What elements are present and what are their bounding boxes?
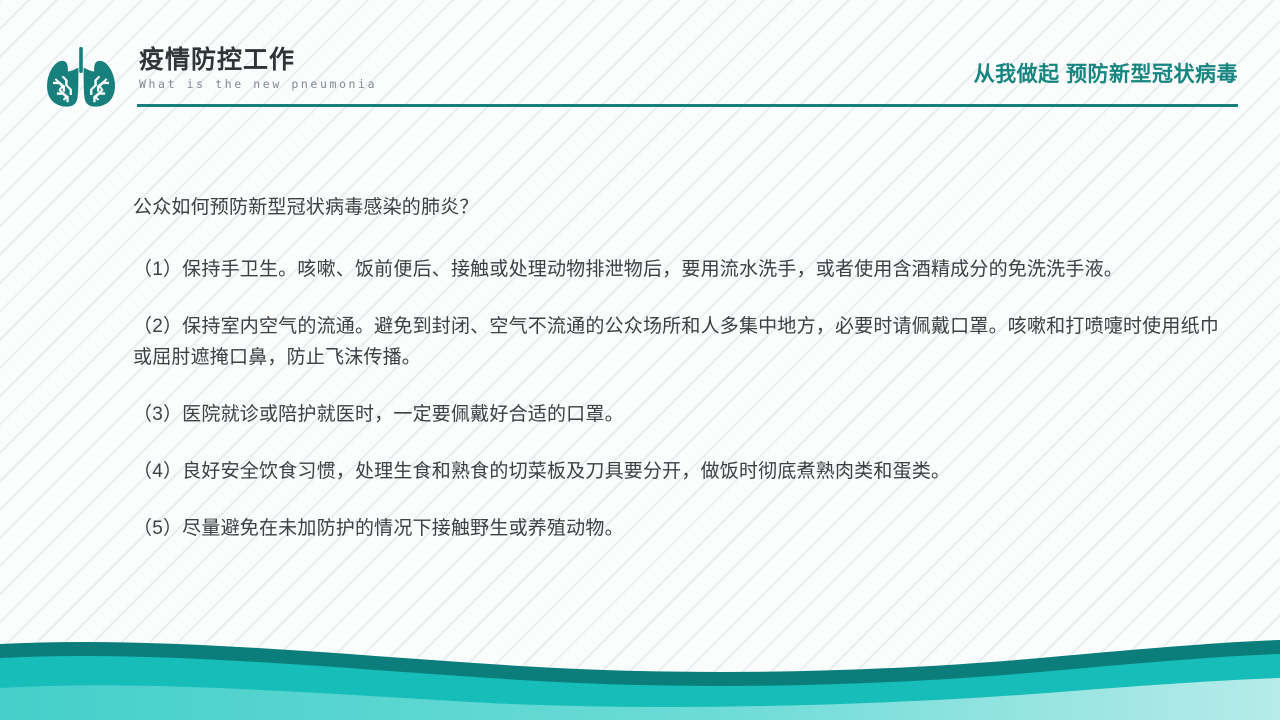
- slide-header: 疫情防控工作 What is the new pneumonia 从我做起 预防…: [0, 0, 1280, 120]
- prevention-item-1: （1）保持手卫生。咳嗽、饭前便后、接触或处理动物排泄物后，要用流水洗手，或者使用…: [133, 254, 1223, 285]
- slide-canvas: 疫情防控工作 What is the new pneumonia 从我做起 预防…: [0, 0, 1280, 720]
- prevention-item-2: （2）保持室内空气的流通。避免到封闭、空气不流通的公众场所和人多集中地方，必要时…: [133, 311, 1223, 373]
- prevention-item-3: （3）医院就诊或陪护就医时，一定要佩戴好合适的口罩。: [133, 399, 1223, 430]
- prevention-item-5: （5）尽量避免在未加防护的情况下接触野生或养殖动物。: [133, 513, 1223, 544]
- page-title: 疫情防控工作: [139, 45, 377, 75]
- page-subtitle: What is the new pneumonia: [139, 77, 377, 91]
- footer-wave-decoration: [0, 610, 1280, 720]
- content-lead-question: 公众如何预防新型冠状病毒感染的肺炎？: [133, 192, 1223, 223]
- prevention-item-4: （4）良好安全饮食习惯，处理生食和熟食的切菜板及刀具要分开，做饭时彻底煮熟肉类和…: [133, 456, 1223, 487]
- header-title-block: 疫情防控工作 What is the new pneumonia: [139, 45, 377, 91]
- content-body: 公众如何预防新型冠状病毒感染的肺炎？ （1）保持手卫生。咳嗽、饭前便后、接触或处…: [133, 192, 1223, 544]
- lungs-icon: [45, 47, 117, 109]
- header-divider: [137, 104, 1238, 107]
- header-slogan: 从我做起 预防新型冠状病毒: [974, 58, 1238, 88]
